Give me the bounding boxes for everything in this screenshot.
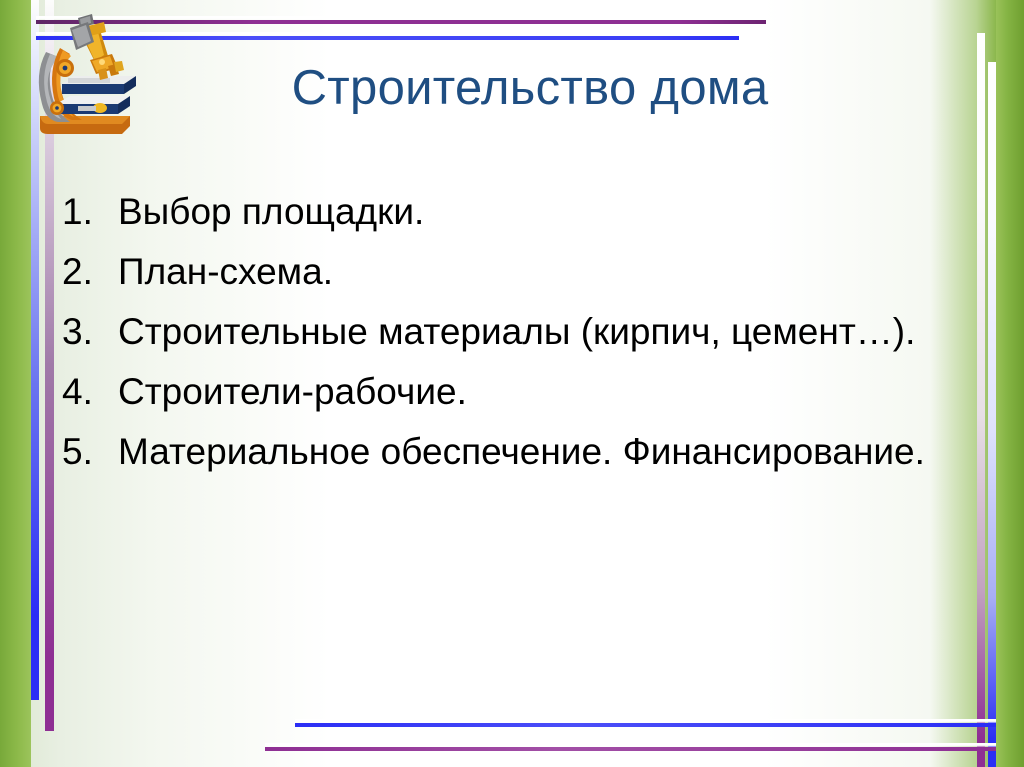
rule-core xyxy=(36,36,739,40)
list-item-number: 2. xyxy=(62,242,118,302)
list-item-text: План-схема. xyxy=(118,242,962,302)
list-item-text: Строительные материалы (кирпич, цемент…)… xyxy=(118,302,962,362)
list-item: 4. Строители-рабочие. xyxy=(62,362,962,422)
microscope-icon xyxy=(26,12,136,147)
right-blue-vertical-rule xyxy=(988,62,996,767)
slide: Строительство дома 1. Выбор площадки. 2.… xyxy=(0,0,1024,767)
list-item-number: 1. xyxy=(62,182,118,242)
list-item: 5. Материальное обеспечение. Финансирова… xyxy=(62,422,962,482)
ordered-list: 1. Выбор площадки. 2. План-схема. 3. Стр… xyxy=(62,182,962,482)
bottom-blue-horizontal-rule xyxy=(295,719,996,727)
rule-core xyxy=(36,20,766,24)
right-purple-vertical-rule xyxy=(977,33,985,767)
list-item: 3. Строительные материалы (кирпич, цемен… xyxy=(62,302,962,362)
page-title: Строительство дома xyxy=(150,58,910,118)
list-item-text: Материальное обеспечение. Финансирование… xyxy=(118,422,962,482)
top-blue-horizontal-rule xyxy=(36,32,739,40)
bottom-purple-horizontal-rule xyxy=(265,743,996,751)
rule-core xyxy=(265,747,996,751)
list-item: 1. Выбор площадки. xyxy=(62,182,962,242)
top-purple-horizontal-rule xyxy=(36,16,766,24)
right-green-band xyxy=(996,0,1024,767)
list-item-number: 4. xyxy=(62,362,118,422)
list-item-number: 5. xyxy=(62,422,118,482)
list-item-text: Выбор площадки. xyxy=(118,182,962,242)
list-item-text: Строители-рабочие. xyxy=(118,362,962,422)
list-item-number: 3. xyxy=(62,302,118,362)
list-item: 2. План-схема. xyxy=(62,242,962,302)
rule-core xyxy=(295,723,996,727)
